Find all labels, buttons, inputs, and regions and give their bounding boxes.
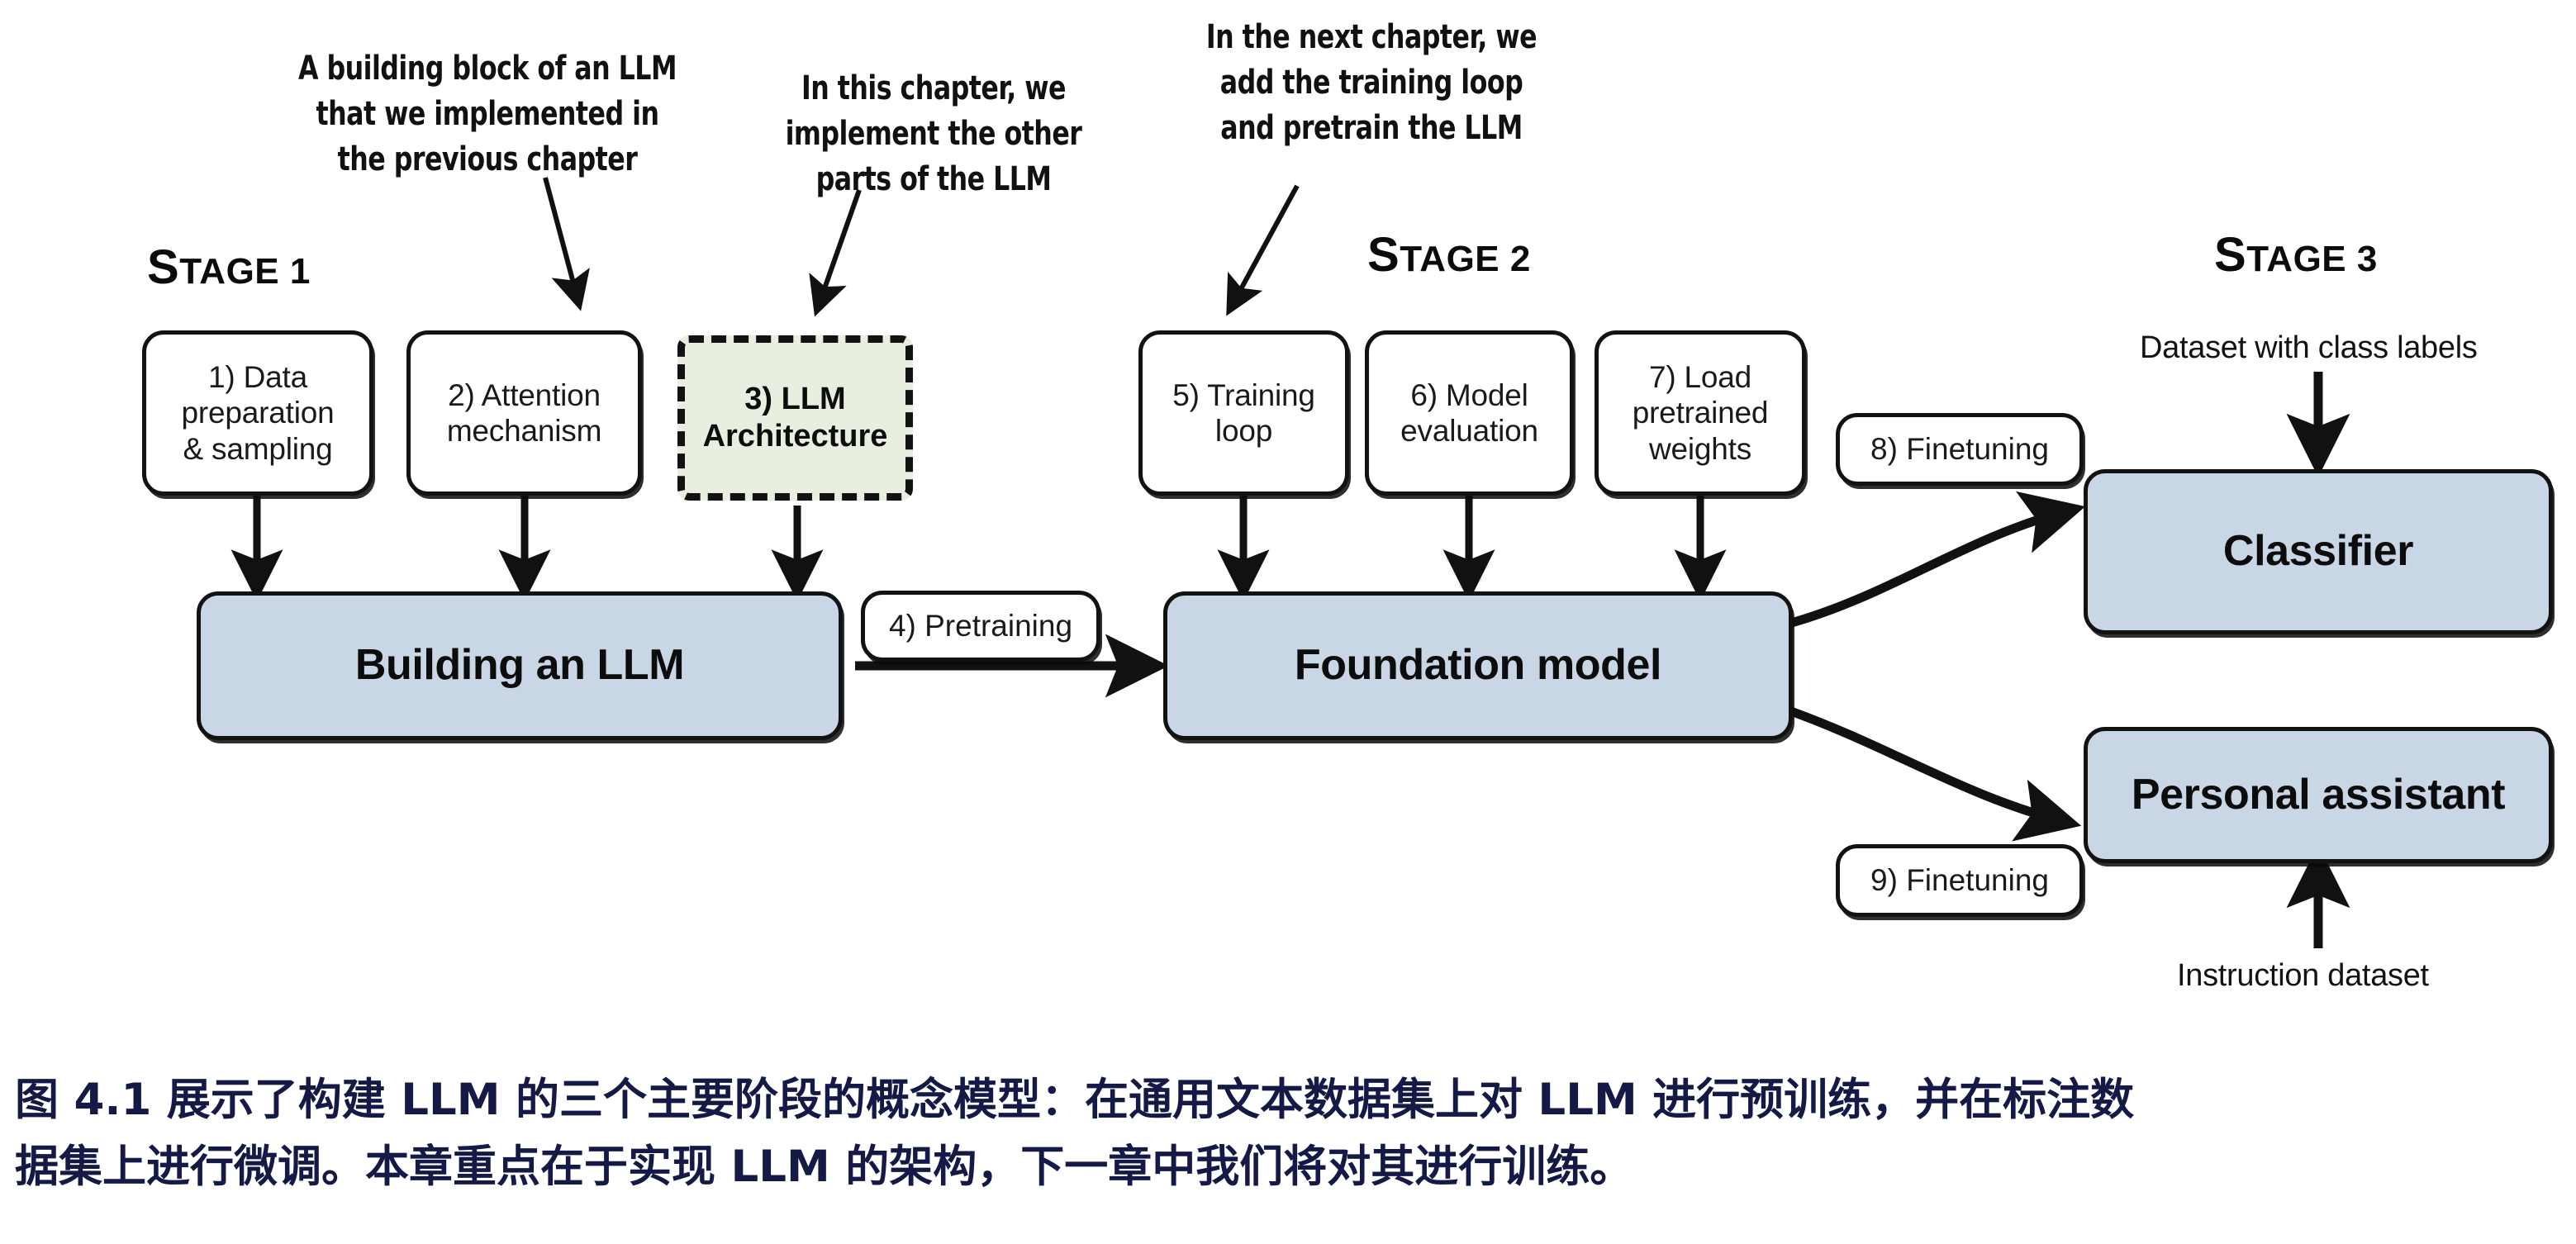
stage-3-heading: STAGE 3 — [2214, 227, 2378, 283]
box-personal-assistant-label: Personal assistant — [2132, 772, 2505, 819]
step-box-attention-mechanism[interactable]: 2) Attention mechanism — [406, 330, 642, 496]
pill-pretraining-label: 4) Pretraining — [889, 610, 1072, 643]
annotation-next-chapter: In the next chapter, we add the training… — [1182, 15, 1561, 152]
pill-finetuning-9-label: 9) Finetuning — [1870, 865, 2049, 897]
stage-2-heading: STAGE 2 — [1367, 227, 1531, 283]
box-building-an-llm-label: Building an LLM — [355, 642, 684, 689]
box-classifier[interactable]: Classifier — [2084, 469, 2553, 634]
step-box-llm-architecture[interactable]: 3) LLM Architecture — [677, 335, 913, 501]
step-box-training-loop[interactable]: 5) Training loop — [1138, 330, 1349, 496]
step-box-load-pretrained-weights[interactable]: 7) Load pretrained weights — [1595, 330, 1806, 496]
figure-caption: 图 4.1 展示了构建 LLM 的三个主要阶段的概念模型：在通用文本数据集上对 … — [15, 1067, 2568, 1200]
step-box-model-evaluation[interactable]: 6) Model evaluation — [1365, 330, 1574, 496]
stage-1-heading: STAGE 1 — [147, 240, 311, 295]
step-box-training-loop-label: 5) Training loop — [1172, 377, 1315, 449]
annotation-building-block: A building block of an LLM that we imple… — [277, 46, 698, 183]
box-personal-assistant[interactable]: Personal assistant — [2084, 727, 2553, 863]
label-dataset-with-class-labels: Dataset with class labels — [2140, 330, 2478, 366]
arrow-foundation-to-classifier — [1789, 510, 2070, 624]
figure-caption-line-1: 图 4.1 展示了构建 LLM 的三个主要阶段的概念模型：在通用文本数据集上对 … — [15, 1067, 2568, 1134]
diagram-canvas: A building block of an LLM that we imple… — [0, 0, 2576, 1244]
step-box-data-preparation[interactable]: 1) Data preparation & sampling — [142, 330, 373, 496]
label-instruction-dataset: Instruction dataset — [2177, 958, 2429, 994]
figure-caption-line-2: 据集上进行微调。本章重点在于实现 LLM 的架构，下一章中我们将对其进行训练。 — [15, 1134, 2568, 1201]
annotation-arrow-2 — [818, 190, 859, 307]
step-box-attention-mechanism-label: 2) Attention mechanism — [447, 377, 601, 449]
pill-finetuning-9[interactable]: 9) Finetuning — [1836, 844, 2084, 917]
box-building-an-llm[interactable]: Building an LLM — [197, 591, 843, 740]
box-foundation-model[interactable]: Foundation model — [1163, 591, 1793, 740]
annotation-arrow-3 — [1231, 186, 1297, 307]
step-box-load-pretrained-weights-label: 7) Load pretrained weights — [1633, 359, 1769, 467]
box-classifier-label: Classifier — [2223, 528, 2413, 575]
arrow-foundation-to-assistant — [1789, 710, 2065, 822]
step-box-data-preparation-label: 1) Data preparation & sampling — [182, 359, 335, 467]
pill-finetuning-8[interactable]: 8) Finetuning — [1836, 413, 2084, 486]
step-box-model-evaluation-label: 6) Model evaluation — [1400, 377, 1538, 449]
pill-pretraining[interactable]: 4) Pretraining — [861, 591, 1100, 662]
annotation-this-chapter: In this chapter, we implement the other … — [767, 66, 1101, 203]
step-box-llm-architecture-label: 3) LLM Architecture — [703, 381, 888, 455]
pill-finetuning-8-label: 8) Finetuning — [1870, 434, 2049, 466]
box-foundation-model-label: Foundation model — [1295, 642, 1661, 689]
annotation-arrow-1 — [545, 178, 578, 302]
